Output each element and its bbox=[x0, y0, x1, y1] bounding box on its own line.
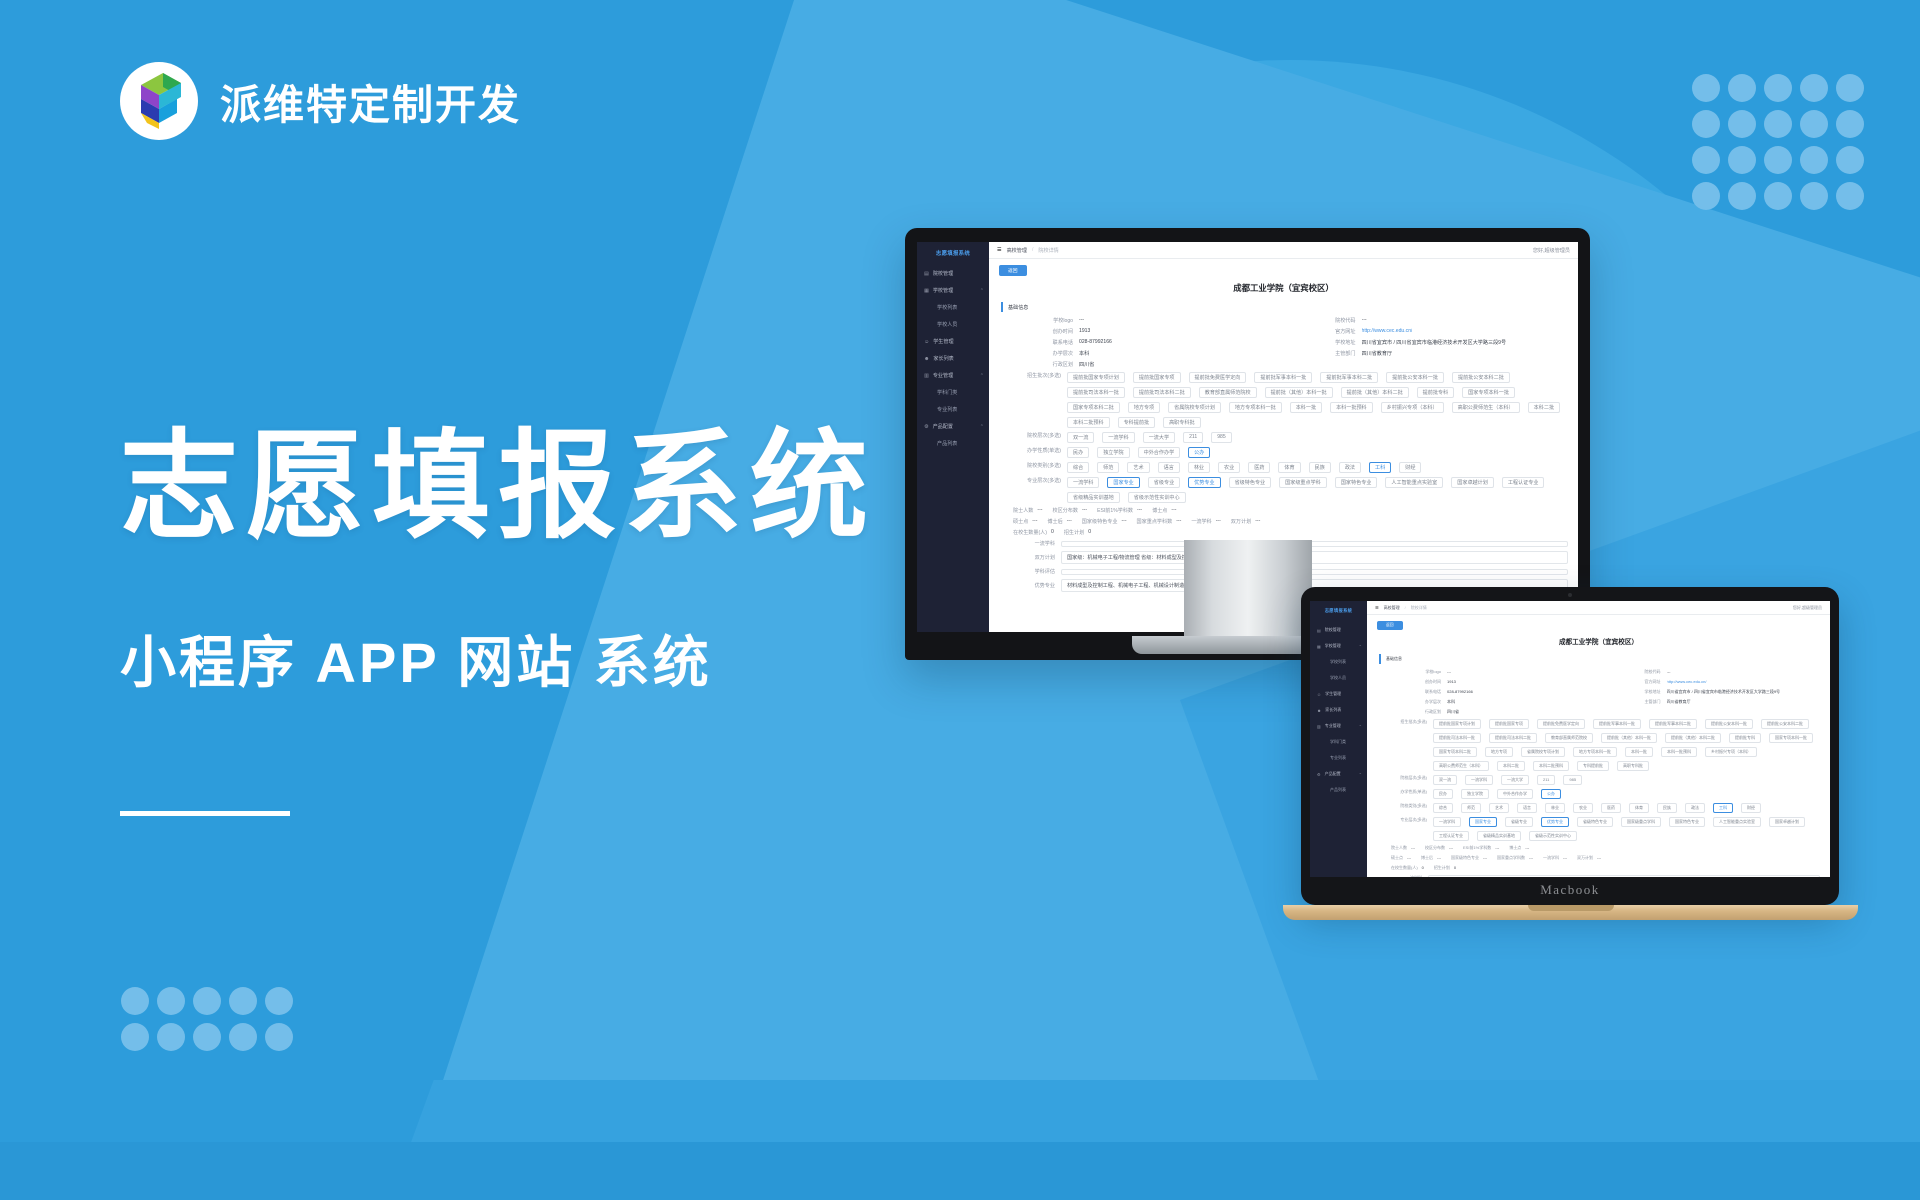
tag-option[interactable]: 医药 bbox=[1601, 803, 1621, 813]
tag-option[interactable]: 乡村振兴专项（本科） bbox=[1381, 402, 1444, 413]
sidebar-item-label: 学校人员 bbox=[1330, 675, 1346, 681]
tag-option[interactable]: 本科二批 bbox=[1497, 761, 1525, 771]
breadcrumb-root[interactable]: 高校管理 bbox=[1384, 605, 1400, 611]
sidebar-item-zhuanye-guanli[interactable]: ▥ 专业管理 ⌃ bbox=[1310, 718, 1367, 734]
tag-option[interactable]: 公办 bbox=[1188, 447, 1210, 458]
stat-label: 博士点 bbox=[1152, 507, 1167, 514]
stat-row: 院士人数---校区分布数---ESI前1%学科数---博士点--- bbox=[1377, 845, 1820, 851]
stat-label: 一流学科 bbox=[1191, 518, 1211, 525]
stat-cell: 校区分布数--- bbox=[1425, 845, 1453, 851]
tag-option[interactable]: 提前批司法本科二批 bbox=[1489, 733, 1537, 743]
tag-option[interactable]: 国家卓越计划 bbox=[1769, 817, 1805, 827]
sidebar-item-xuesheng-guanli[interactable]: ☺ 学生管理 bbox=[917, 333, 989, 350]
tag-list: 民办独立学院中外合作办学公办 bbox=[1433, 789, 1561, 799]
field-label: 院校代码 bbox=[1619, 669, 1661, 675]
tag-option[interactable]: 本科一批预科 bbox=[1661, 747, 1697, 757]
tag-option[interactable]: 提前批国家专项计划 bbox=[1067, 372, 1125, 383]
tag-option[interactable]: 本科一批预科 bbox=[1330, 402, 1373, 413]
stat-value: --- bbox=[1483, 855, 1487, 861]
sidebar-item-zhuanye-liebiao[interactable]: 专业列表 bbox=[917, 401, 989, 418]
tag-option[interactable]: 本科一批 bbox=[1290, 402, 1322, 413]
sidebar-item-jiazhang-liebiao[interactable]: ☻ 家长列表 bbox=[917, 350, 989, 367]
back-button[interactable]: 返回 bbox=[999, 265, 1027, 276]
stat-cell: 校区分布数--- bbox=[1052, 507, 1087, 514]
tag-option[interactable]: 人工智能重点实验室 bbox=[1713, 817, 1761, 827]
sidebar-item-xuexiao-renyuan[interactable]: 学校人员 bbox=[1310, 670, 1367, 686]
section-accent-bar bbox=[1001, 302, 1003, 312]
tag-option[interactable]: 提前批国家专项 bbox=[1489, 719, 1529, 729]
chevron-up-icon: ⌃ bbox=[980, 288, 984, 294]
stat-cell: 博士点--- bbox=[1152, 507, 1176, 514]
tag-option[interactable]: 民办 bbox=[1433, 789, 1453, 799]
field-row: 办学层次本科 主管部门四川省教育厅 bbox=[1377, 699, 1820, 705]
tag-option[interactable]: 省级示范性实训中心 bbox=[1529, 831, 1577, 841]
tag-option[interactable]: 地方专项本科一批 bbox=[1573, 747, 1617, 757]
detail-page-title: 成都工业学院（宜宾校区） bbox=[999, 282, 1568, 294]
tag-option[interactable]: 提前批（其他）本科一批 bbox=[1601, 733, 1657, 743]
tag-option[interactable]: 提前批公安本科一批 bbox=[1705, 719, 1753, 729]
tag-group-label: 招生批次(多选) bbox=[1377, 719, 1427, 725]
stat-label: 硕士点 bbox=[1013, 518, 1028, 525]
tag-option[interactable]: 农业 bbox=[1218, 462, 1240, 473]
sidebar-item-xuexiao-guanli[interactable]: ▦ 学校管理 ⌃ bbox=[917, 282, 989, 299]
tag-option[interactable]: 本科二批预科 bbox=[1533, 761, 1569, 771]
field-value: 028-87992166 bbox=[1079, 339, 1112, 346]
stat-cell: 双万计划--- bbox=[1577, 855, 1601, 861]
chevron-up-icon: ⌃ bbox=[1359, 724, 1362, 729]
stat-value: --- bbox=[1171, 507, 1176, 514]
tag-option[interactable]: 高职专科批 bbox=[1617, 761, 1649, 771]
field: 院校代码--- bbox=[1619, 669, 1821, 675]
tag-option[interactable]: 提前批司法本科一批 bbox=[1433, 733, 1481, 743]
topbar: ☰ 高校管理 / 院校详情 您好,超级管理员 bbox=[1367, 601, 1830, 615]
tag-option[interactable]: 国家卓越计划 bbox=[1451, 477, 1494, 488]
tag-option[interactable]: 农业 bbox=[1573, 803, 1593, 813]
text-input[interactable] bbox=[1428, 875, 1820, 877]
tag-option[interactable]: 211 bbox=[1537, 775, 1555, 785]
tag-option[interactable]: 提前批（其他）本科二批 bbox=[1665, 733, 1721, 743]
field: 联系电话028-87992166 bbox=[1021, 339, 1286, 346]
field-value: 本科 bbox=[1079, 350, 1089, 357]
tag-option[interactable]: 提前批公安本科一批 bbox=[1386, 372, 1444, 383]
field: 办学层次本科 bbox=[1021, 350, 1286, 357]
tag-option[interactable]: 体育 bbox=[1278, 462, 1300, 473]
sidebar-item-label: 院校管理 bbox=[933, 270, 953, 277]
field-row: 办学层次本科 主管部门四川省教育厅 bbox=[999, 350, 1568, 357]
tag-option[interactable]: 高职公费师范生（本科） bbox=[1452, 402, 1520, 413]
tag-option[interactable]: 提前批公安本科二批 bbox=[1452, 372, 1510, 383]
sidebar-item-yuanxiao-guanli[interactable]: ▤ 院校管理 bbox=[1310, 622, 1367, 638]
tag-option[interactable]: 语言 bbox=[1158, 462, 1180, 473]
field: 主管部门四川省教育厅 bbox=[1619, 699, 1821, 705]
tag-option[interactable]: 双一流 bbox=[1433, 775, 1457, 785]
field-row: 创办时间1913 官方网址http://www.cec.edu.cn/ bbox=[999, 328, 1568, 335]
breadcrumb-current: 院校详情 bbox=[1038, 247, 1058, 254]
tag-option[interactable]: 财经 bbox=[1741, 803, 1761, 813]
tag-option[interactable]: 专科提前批 bbox=[1577, 761, 1609, 771]
tag-group-label: 办学性质(单选) bbox=[999, 447, 1061, 454]
brand-name: 派维特定制开发 bbox=[220, 71, 521, 131]
sidebar-item-yuanxiao-guanli[interactable]: ▤ 院校管理 bbox=[917, 265, 989, 282]
tag-option[interactable]: 省级示范性实训中心 bbox=[1128, 492, 1186, 503]
tag-option[interactable]: 政法 bbox=[1339, 462, 1361, 473]
sidebar-item-chanpin-peizhi[interactable]: ⚙ 产品配置 ⌃ bbox=[917, 418, 989, 435]
sidebar-item-label: 学科门类 bbox=[937, 389, 957, 396]
stat-value: --- bbox=[1411, 845, 1415, 851]
stat-value: --- bbox=[1563, 855, 1567, 861]
stat-label: 在校生数量(人) bbox=[1013, 529, 1047, 536]
tag-option[interactable]: 省属院校专项计划 bbox=[1521, 747, 1565, 757]
brand-lockup: 派维特定制开发 bbox=[120, 62, 521, 140]
tag-option[interactable]: 综合 bbox=[1433, 803, 1453, 813]
sidebar-item-xueke-menlei[interactable]: 学科门类 bbox=[1310, 734, 1367, 750]
tag-option[interactable]: 民族 bbox=[1657, 803, 1677, 813]
menu-icon[interactable]: ☰ bbox=[1375, 605, 1379, 610]
tag-group-label: 院校类别(多选) bbox=[999, 462, 1061, 469]
field-label: 创办时间 bbox=[1399, 679, 1441, 685]
field-value: 1913 bbox=[1079, 328, 1090, 335]
stat-cell: 院士人数--- bbox=[1013, 507, 1042, 514]
stat-row: 硕士点---博士后---国家级特色专业---国家重点学科数---一流学科---双… bbox=[1377, 855, 1820, 861]
section-accent-bar bbox=[1379, 654, 1381, 664]
tag-option[interactable]: 医药 bbox=[1248, 462, 1270, 473]
tag-option[interactable]: 本科一批 bbox=[1625, 747, 1653, 757]
field: 学校logo--- bbox=[1399, 669, 1601, 675]
stat-cell: 博士点--- bbox=[1509, 845, 1529, 851]
field: 学校logo--- bbox=[1021, 317, 1286, 324]
tag-option[interactable]: 林业 bbox=[1545, 803, 1565, 813]
tag-group: 办学性质(单选) 民办独立学院中外合作办学公办 bbox=[1377, 789, 1820, 799]
tag-option[interactable]: 林业 bbox=[1188, 462, 1210, 473]
tag-list: 民办独立学院中外合作办学公办 bbox=[1067, 447, 1210, 458]
field-row: 学校logo--- 院校代码--- bbox=[1377, 669, 1820, 675]
sidebar-item-label: 专业管理 bbox=[933, 372, 953, 379]
tag-option[interactable]: 乡村振兴专项（本科） bbox=[1705, 747, 1757, 757]
sidebar-item-label: 学生管理 bbox=[1325, 691, 1341, 697]
stat-value: --- bbox=[1449, 845, 1453, 851]
tag-option[interactable]: 公办 bbox=[1541, 789, 1561, 799]
field-value: 1913 bbox=[1447, 679, 1456, 685]
tag-option[interactable]: 一流学科 bbox=[1067, 477, 1099, 488]
tag-option[interactable]: 教育部直属师范院校 bbox=[1199, 387, 1257, 398]
sidebar-item-xueke-menlei[interactable]: 学科门类 bbox=[917, 384, 989, 401]
stat-label: 博士点 bbox=[1509, 845, 1521, 851]
tag-group-label: 专业层次(多选) bbox=[999, 477, 1061, 484]
tag-option[interactable]: 本科二批预科 bbox=[1067, 417, 1110, 428]
tag-group-label: 招生批次(多选) bbox=[999, 372, 1061, 379]
section-title: 基础信息 bbox=[1386, 656, 1402, 662]
stat-value: --- bbox=[1216, 518, 1221, 525]
stat-row: 在校生数量(人)0招生计划0 bbox=[1377, 865, 1820, 871]
sidebar-item-xuexiao-liebiao[interactable]: 学校列表 bbox=[917, 299, 989, 316]
tag-option[interactable]: 工程认证专业 bbox=[1502, 477, 1545, 488]
stat-row: 在校生数量(人)0招生计划0 bbox=[999, 529, 1568, 536]
tag-option[interactable]: 国家专项本科二批 bbox=[1067, 402, 1120, 413]
breadcrumb-root[interactable]: 高校管理 bbox=[1007, 247, 1027, 254]
menu-icon[interactable]: ☰ bbox=[997, 247, 1002, 253]
tag-option[interactable]: 中外合作办学 bbox=[1497, 789, 1533, 799]
field-value: 四川省教育厅 bbox=[1667, 699, 1691, 705]
tag-option[interactable]: 师范 bbox=[1461, 803, 1481, 813]
sidebar-item-xuexiao-renyuan[interactable]: 学校人员 bbox=[917, 316, 989, 333]
tag-option[interactable]: 艺术 bbox=[1127, 462, 1149, 473]
tag-option[interactable]: 提前批军事本科一批 bbox=[1593, 719, 1641, 729]
user-greeting[interactable]: 您好,超级管理员 bbox=[1533, 247, 1570, 254]
admin-app-laptop: 志愿填报系统 ▤ 院校管理 ▦ 学校管理 ⌃ bbox=[1310, 601, 1830, 877]
tag-option[interactable]: 985 bbox=[1211, 432, 1232, 443]
stat-label: 国家级特色专业 bbox=[1082, 518, 1118, 525]
tag-option[interactable]: 省级专业 bbox=[1148, 477, 1180, 488]
field-label: 学校地址 bbox=[1304, 339, 1356, 346]
field-label: 院校代码 bbox=[1304, 317, 1356, 324]
tag-option[interactable]: 地方专项 bbox=[1485, 747, 1513, 757]
file-icon: ▤ bbox=[1317, 628, 1321, 633]
stat-label: 国家重点学科数 bbox=[1497, 855, 1525, 861]
stat-cell: 硕士点--- bbox=[1391, 855, 1411, 861]
tag-option[interactable]: 高职公费师范生（本科） bbox=[1433, 761, 1489, 771]
stat-cell: 招生计划0 bbox=[1434, 865, 1456, 871]
sidebar-menu: ▤ 院校管理 ▦ 学校管理 ⌃ 学校列表 bbox=[1310, 622, 1367, 798]
sidebar-logo: 志愿填报系统 bbox=[917, 242, 989, 265]
sidebar-item-chanpin-peizhi[interactable]: ⚙ 产品配置 ⌃ bbox=[1310, 766, 1367, 782]
sidebar-item-xuexiao-liebiao[interactable]: 学校列表 bbox=[1310, 654, 1367, 670]
field-label: 官方网址 bbox=[1619, 679, 1661, 685]
tag-option[interactable]: 提前批专科 bbox=[1729, 733, 1761, 743]
sidebar-item-label: 学校人员 bbox=[937, 321, 957, 328]
sidebar-item-label: 专业列表 bbox=[1330, 755, 1346, 761]
tag-option[interactable]: 省属院校专项计划 bbox=[1168, 402, 1221, 413]
tag-list: 提前批国家专项计划提前批国家专项提前批免费医学定向提前批军事本科一批提前批军事本… bbox=[1433, 719, 1820, 771]
sidebar-item-label: 学科门类 bbox=[1330, 739, 1346, 745]
back-button[interactable]: 返回 bbox=[1377, 621, 1403, 630]
field-spacer bbox=[1619, 709, 1821, 715]
grid-icon: ▦ bbox=[1317, 644, 1321, 649]
stat-value: --- bbox=[1176, 518, 1181, 525]
stat-label: 招生计划 bbox=[1434, 865, 1450, 871]
sidebar-item-zhuanye-liebiao[interactable]: 专业列表 bbox=[1310, 750, 1367, 766]
tag-option[interactable]: 工程认证专业 bbox=[1433, 831, 1469, 841]
tag-option[interactable]: 提前批国家专项 bbox=[1133, 372, 1181, 383]
tag-option[interactable]: 国家特色专业 bbox=[1335, 477, 1378, 488]
section-header-basic: 基础信息 bbox=[1379, 654, 1820, 664]
sidebar: 志愿填报系统 ▤ 院校管理 ▦ 学校管理 ⌃ bbox=[1310, 601, 1367, 877]
tag-list: 综合师范艺术语言林业农业医药体育民族政法工科财经 bbox=[1067, 462, 1421, 473]
tag-option[interactable]: 提前批公安本科二批 bbox=[1761, 719, 1809, 729]
field-value: 四川省宜宾市 / 四川省宜宾市临港经济技术开发区大学路三段9号 bbox=[1362, 339, 1507, 346]
tag-option[interactable]: 教育部直属师范院校 bbox=[1545, 733, 1593, 743]
stat-value: --- bbox=[1121, 518, 1126, 525]
field-row: 联系电话028-87992166 学校地址四川省宜宾市 / 四川省宜宾市临港经济… bbox=[1377, 689, 1820, 695]
stat-label: 双万计划 bbox=[1231, 518, 1251, 525]
tag-option[interactable]: 提前批军事本科二批 bbox=[1320, 372, 1378, 383]
sidebar-item-label: 产品配置 bbox=[933, 423, 953, 430]
tag-option[interactable]: 提前批司法本科一批 bbox=[1067, 387, 1125, 398]
stat-cell: 双万计划--- bbox=[1231, 518, 1260, 525]
tag-option[interactable]: 一流学科 bbox=[1102, 432, 1134, 443]
field-label: 主管部门 bbox=[1619, 699, 1661, 705]
tag-group-label: 办学性质(单选) bbox=[1377, 789, 1427, 795]
divider bbox=[120, 811, 290, 816]
tag-option[interactable]: 省级特色专业 bbox=[1577, 817, 1613, 827]
stat-value: --- bbox=[1255, 518, 1260, 525]
tag-option[interactable]: 政法 bbox=[1685, 803, 1705, 813]
tag-option[interactable]: 师范 bbox=[1097, 462, 1119, 473]
tag-option[interactable]: 民办 bbox=[1067, 447, 1089, 458]
tag-option[interactable]: 工科 bbox=[1369, 462, 1391, 473]
sidebar-item-jiazhang-liebiao[interactable]: ☻ 家长列表 bbox=[1310, 702, 1367, 718]
stat-label: 博士后 bbox=[1047, 518, 1062, 525]
field-value: --- bbox=[1362, 317, 1367, 324]
tag-option[interactable]: 提前批军事本科一批 bbox=[1254, 372, 1312, 383]
tag-option[interactable]: 提前批免费医学定向 bbox=[1189, 372, 1247, 383]
tag-option[interactable]: 提前批军事本科二批 bbox=[1649, 719, 1697, 729]
tag-option[interactable]: 国家专业 bbox=[1107, 477, 1139, 488]
tag-option[interactable]: 独立学院 bbox=[1461, 789, 1489, 799]
tag-option[interactable]: 工科 bbox=[1713, 803, 1733, 813]
stat-cell: 硕士点--- bbox=[1013, 518, 1037, 525]
chevron-up-icon: ⌃ bbox=[980, 424, 984, 430]
tag-option[interactable]: 优势专业 bbox=[1541, 817, 1569, 827]
topbar: ☰ 高校管理 / 院校详情 您好,超级管理员 bbox=[989, 242, 1578, 259]
field: 行政区划四川省 bbox=[1399, 709, 1601, 715]
stat-cell: 国家级特色专业--- bbox=[1082, 518, 1127, 525]
tag-option[interactable]: 一流大学 bbox=[1143, 432, 1175, 443]
stat-row: 硕士点---博士后---国家级特色专业---国家重点学科数---一流学科---双… bbox=[999, 518, 1568, 525]
stat-value: 0 bbox=[1454, 865, 1456, 871]
tag-option[interactable]: 国家专项本科二批 bbox=[1433, 747, 1477, 757]
tag-option[interactable]: 提前批免费医学定向 bbox=[1537, 719, 1585, 729]
tag-option[interactable]: 地方专项 bbox=[1128, 402, 1160, 413]
camera-icon bbox=[1568, 593, 1572, 597]
breadcrumb-separator: / bbox=[1032, 247, 1033, 253]
tag-option[interactable]: 高职专科批 bbox=[1163, 417, 1200, 428]
tag-option[interactable]: 语言 bbox=[1517, 803, 1537, 813]
stat-cell: 国家重点学科数--- bbox=[1497, 855, 1533, 861]
field: 学校地址四川省宜宾市 / 四川省宜宾市临港经济技术开发区大学路三段9号 bbox=[1619, 689, 1821, 695]
field-label: 行政区划 bbox=[1399, 709, 1441, 715]
input-label: 一流学科 bbox=[1377, 875, 1422, 877]
tag-option[interactable]: 985 bbox=[1563, 775, 1582, 785]
tag-option[interactable]: 人工智能重点实验室 bbox=[1385, 477, 1443, 488]
tag-option[interactable]: 国家级重点学科 bbox=[1279, 477, 1327, 488]
stat-value: --- bbox=[1067, 518, 1072, 525]
field-value[interactable]: http://www.cec.edu.cn/ bbox=[1362, 328, 1413, 335]
paiweite-arrow-logo-icon bbox=[120, 62, 198, 140]
sidebar-item-label: 产品列表 bbox=[1330, 787, 1346, 793]
book-icon: ▥ bbox=[924, 373, 929, 379]
chevron-up-icon: ⌃ bbox=[1359, 772, 1362, 777]
stat-row: 院士人数---校区分布数---ESI前1%学科数---博士点--- bbox=[999, 507, 1568, 514]
field: 创办时间1913 bbox=[1021, 328, 1286, 335]
tag-option[interactable]: 国家专项本科一批 bbox=[1462, 387, 1515, 398]
stat-label: 招生计划 bbox=[1064, 529, 1084, 536]
tag-option[interactable]: 独立学院 bbox=[1097, 447, 1129, 458]
tag-option[interactable]: 一流大学 bbox=[1501, 775, 1529, 785]
book-icon: ▥ bbox=[1317, 724, 1321, 729]
laptop-mockup: 志愿填报系统 ▤ 院校管理 ▦ 学校管理 ⌃ bbox=[1283, 587, 1858, 920]
field-value: 本科 bbox=[1447, 699, 1455, 705]
sidebar-item-xuesheng-guanli[interactable]: ☺ 学生管理 bbox=[1310, 686, 1367, 702]
tag-option[interactable]: 综合 bbox=[1067, 462, 1089, 473]
sidebar-item-chanpin-liebiao[interactable]: 产品列表 bbox=[1310, 782, 1367, 798]
tag-option[interactable]: 省级精品实训基地 bbox=[1067, 492, 1120, 503]
stat-cell: 一流学科--- bbox=[1191, 518, 1220, 525]
sidebar-item-label: 家长列表 bbox=[933, 355, 953, 362]
users-icon: ☻ bbox=[924, 356, 929, 362]
sidebar-item-label: 学校管理 bbox=[933, 287, 953, 294]
tag-option[interactable]: 本科二批 bbox=[1528, 402, 1560, 413]
tag-option[interactable]: 提前批（其他）本科二批 bbox=[1341, 387, 1409, 398]
field-label: 联系电话 bbox=[1399, 689, 1441, 695]
tag-option[interactable]: 省级精品实训基地 bbox=[1477, 831, 1521, 841]
stat-cell: 国家级特色专业--- bbox=[1451, 855, 1487, 861]
sidebar-item-label: 学校管理 bbox=[1325, 643, 1341, 649]
field-value[interactable]: http://www.cec.edu.cn/ bbox=[1667, 679, 1707, 685]
tag-option[interactable]: 国家级重点学科 bbox=[1621, 817, 1661, 827]
field-spacer bbox=[1304, 361, 1569, 368]
tag-option[interactable]: 省级特色专业 bbox=[1229, 477, 1272, 488]
tag-option[interactable]: 提前批专科 bbox=[1417, 387, 1454, 398]
tag-option[interactable]: 艺术 bbox=[1489, 803, 1509, 813]
tag-option[interactable]: 专科提前批 bbox=[1118, 417, 1155, 428]
user-greeting[interactable]: 您好,超级管理员 bbox=[1793, 605, 1822, 611]
stat-cell: 博士后--- bbox=[1421, 855, 1441, 861]
field-value: 四川省 bbox=[1079, 361, 1094, 368]
stat-label: 在校生数量(人) bbox=[1391, 865, 1418, 871]
tag-option[interactable]: 提前批国家专项计划 bbox=[1433, 719, 1481, 729]
tag-option[interactable]: 民族 bbox=[1309, 462, 1331, 473]
sidebar-item-zhuanye-guanli[interactable]: ▥ 专业管理 ⌃ bbox=[917, 367, 989, 384]
tag-option[interactable]: 211 bbox=[1183, 432, 1203, 443]
field-row: 行政区划四川省 bbox=[1377, 709, 1820, 715]
tag-option[interactable]: 双一流 bbox=[1067, 432, 1094, 443]
tag-option[interactable]: 一流学科 bbox=[1465, 775, 1493, 785]
tag-option[interactable]: 提前批（其他）本科一批 bbox=[1265, 387, 1333, 398]
stat-label: 校区分布数 bbox=[1052, 507, 1077, 514]
tag-option[interactable]: 优势专业 bbox=[1188, 477, 1220, 488]
field-value: --- bbox=[1667, 669, 1671, 675]
tag-option[interactable]: 国家专项本科一批 bbox=[1769, 733, 1813, 743]
tag-option[interactable]: 国家专业 bbox=[1469, 817, 1497, 827]
sidebar-item-label: 学校列表 bbox=[937, 304, 957, 311]
tag-option[interactable]: 国家特色专业 bbox=[1669, 817, 1705, 827]
stat-cell: 一流学科--- bbox=[1543, 855, 1567, 861]
field-value: 四川省 bbox=[1447, 709, 1459, 715]
tag-option[interactable]: 一流学科 bbox=[1433, 817, 1461, 827]
tag-option[interactable]: 提前批司法本科二批 bbox=[1133, 387, 1191, 398]
tag-option[interactable]: 地方专项本科一批 bbox=[1229, 402, 1282, 413]
stat-label: ESI前1%学科数 bbox=[1463, 845, 1491, 851]
sidebar-item-xuexiao-guanli[interactable]: ▦ 学校管理 ⌃ bbox=[1310, 638, 1367, 654]
tag-option[interactable]: 体育 bbox=[1629, 803, 1649, 813]
stat-value: --- bbox=[1495, 845, 1499, 851]
sidebar-item-chanpin-liebiao[interactable]: 产品列表 bbox=[917, 435, 989, 452]
stat-cell: 院士人数--- bbox=[1391, 845, 1415, 851]
field-label: 学校地址 bbox=[1619, 689, 1661, 695]
tag-option[interactable]: 财经 bbox=[1399, 462, 1421, 473]
input-row: 一流学科 bbox=[1377, 875, 1820, 877]
stat-value: --- bbox=[1525, 845, 1529, 851]
field: 办学层次本科 bbox=[1399, 699, 1601, 705]
tag-option[interactable]: 省级专业 bbox=[1505, 817, 1533, 827]
tag-group: 院校类别(多选) 综合师范艺术语言林业农业医药体育民族政法工科财经 bbox=[999, 462, 1568, 473]
tag-list: 提前批国家专项计划提前批国家专项提前批免费医学定向提前批军事本科一批提前批军事本… bbox=[1067, 372, 1568, 428]
tag-option[interactable]: 中外合作办学 bbox=[1138, 447, 1181, 458]
tag-group: 办学性质(单选) 民办独立学院中外合作办学公办 bbox=[999, 447, 1568, 458]
stat-label: ESI前1%学科数 bbox=[1097, 507, 1133, 514]
stat-label: 硕士点 bbox=[1391, 855, 1403, 861]
user-icon: ☺ bbox=[924, 339, 929, 345]
